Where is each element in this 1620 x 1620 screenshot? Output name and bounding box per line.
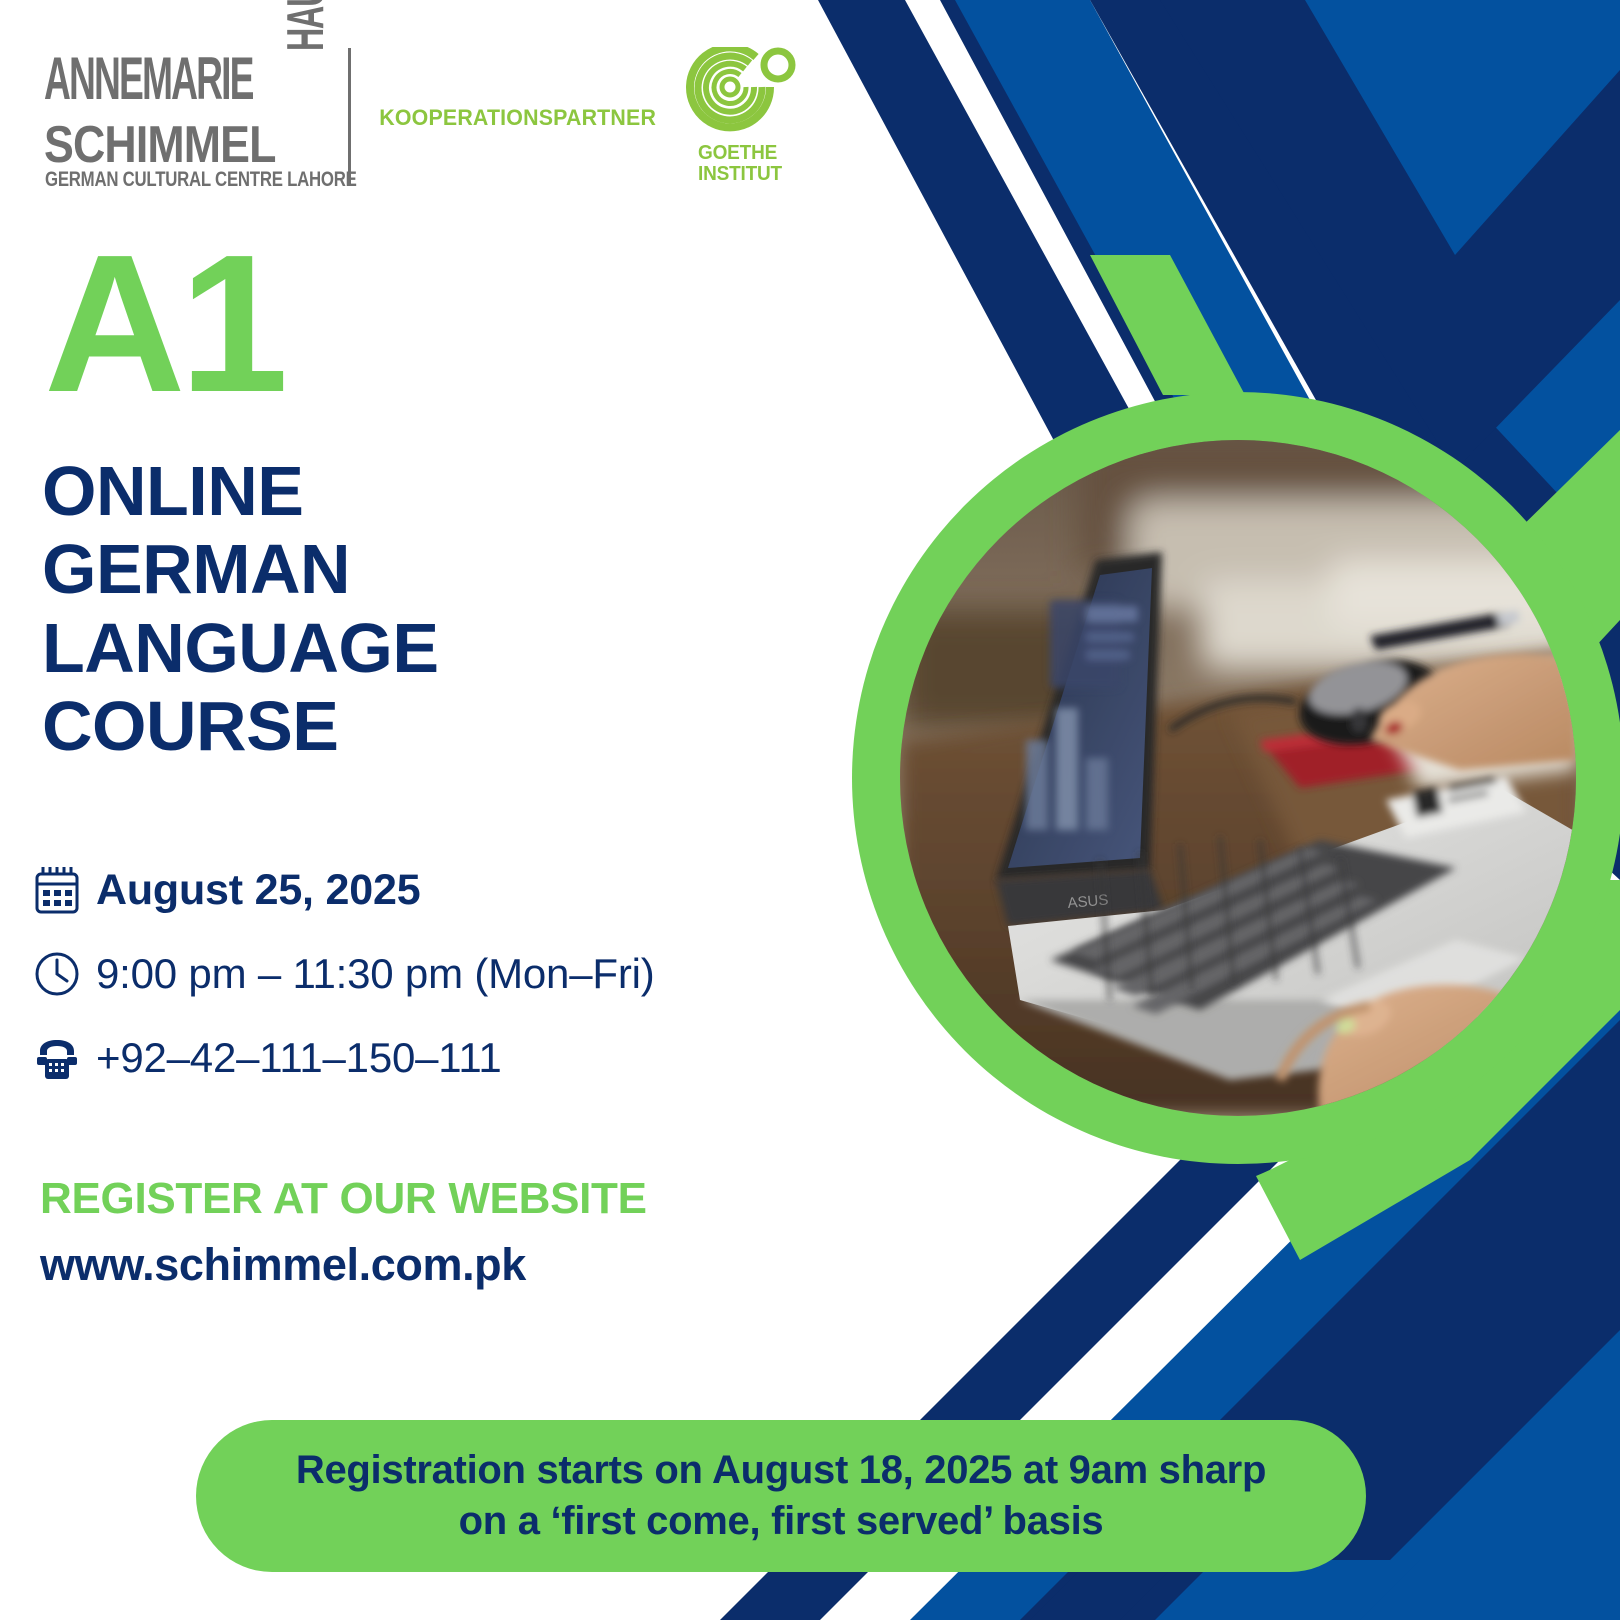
goethe-rings-icon bbox=[686, 47, 806, 143]
detail-phone-text: +92–42–111–150–111 bbox=[96, 1034, 502, 1082]
headline-line-2: GERMAN bbox=[42, 530, 439, 608]
logo-line-haus: HAUS bbox=[280, 0, 332, 51]
poster-canvas: ASUS bbox=[0, 0, 1620, 1620]
logo-row: ANNEMARIE HAUS SCHIMMEL GERMAN CULTURAL … bbox=[44, 48, 806, 188]
detail-time-text: 9:00 pm – 11:30 pm (Mon–Fri) bbox=[96, 950, 655, 998]
goethe-word: GOETHE bbox=[698, 142, 777, 164]
kooperationspartner-label: KOOPERATIONSPARTNER bbox=[379, 105, 656, 131]
detail-row-date: August 25, 2025 bbox=[34, 848, 655, 932]
headline-line-4: COURSE bbox=[42, 687, 439, 765]
detail-row-phone: +92–42–111–150–111 bbox=[34, 1016, 655, 1100]
annemarie-schimmel-haus-logo: ANNEMARIE HAUS SCHIMMEL GERMAN CULTURAL … bbox=[44, 47, 306, 189]
register-heading: REGISTER AT OUR WEBSITE bbox=[40, 1174, 647, 1225]
detail-date-text: August 25, 2025 bbox=[96, 866, 420, 915]
institut-word: INSTITUT bbox=[698, 163, 782, 185]
laptop-photo-illustration: ASUS bbox=[900, 440, 1576, 1116]
website-url[interactable]: www.schimmel.com.pk bbox=[40, 1239, 647, 1291]
logo-line-annemarie: ANNEMARIE bbox=[44, 49, 253, 109]
calendar-icon bbox=[34, 865, 96, 915]
course-photo: ASUS bbox=[900, 440, 1576, 1116]
headline-line-3: LANGUAGE bbox=[42, 609, 439, 687]
register-block: REGISTER AT OUR WEBSITE www.schimmel.com… bbox=[40, 1174, 647, 1290]
detail-row-time: 9:00 pm – 11:30 pm (Mon–Fri) bbox=[34, 932, 655, 1016]
clock-icon bbox=[34, 949, 96, 999]
course-level: A1 bbox=[44, 238, 283, 410]
registration-notice-banner: Registration starts on August 18, 2025 a… bbox=[196, 1420, 1366, 1572]
page-title: ONLINE GERMAN LANGUAGE COURSE bbox=[42, 452, 439, 766]
logo-divider bbox=[348, 48, 351, 184]
headline-line-1: ONLINE bbox=[42, 452, 439, 530]
notice-line-2: on a ‘first come, first served’ basis bbox=[459, 1496, 1104, 1547]
goethe-institut-wordmark: GOETHE INSTITUT bbox=[698, 143, 782, 185]
telephone-icon bbox=[34, 1033, 96, 1083]
goethe-institut-logo: GOETHE INSTITUT bbox=[686, 47, 806, 189]
course-details: August 25, 2025 9:00 pm – 11:30 pm (Mon–… bbox=[34, 848, 655, 1100]
notice-line-1: Registration starts on August 18, 2025 a… bbox=[296, 1445, 1266, 1496]
logo-line-schimmel: SCHIMMEL bbox=[44, 119, 276, 171]
logo-line-subtitle: GERMAN CULTURAL CENTRE LAHORE bbox=[45, 169, 357, 190]
